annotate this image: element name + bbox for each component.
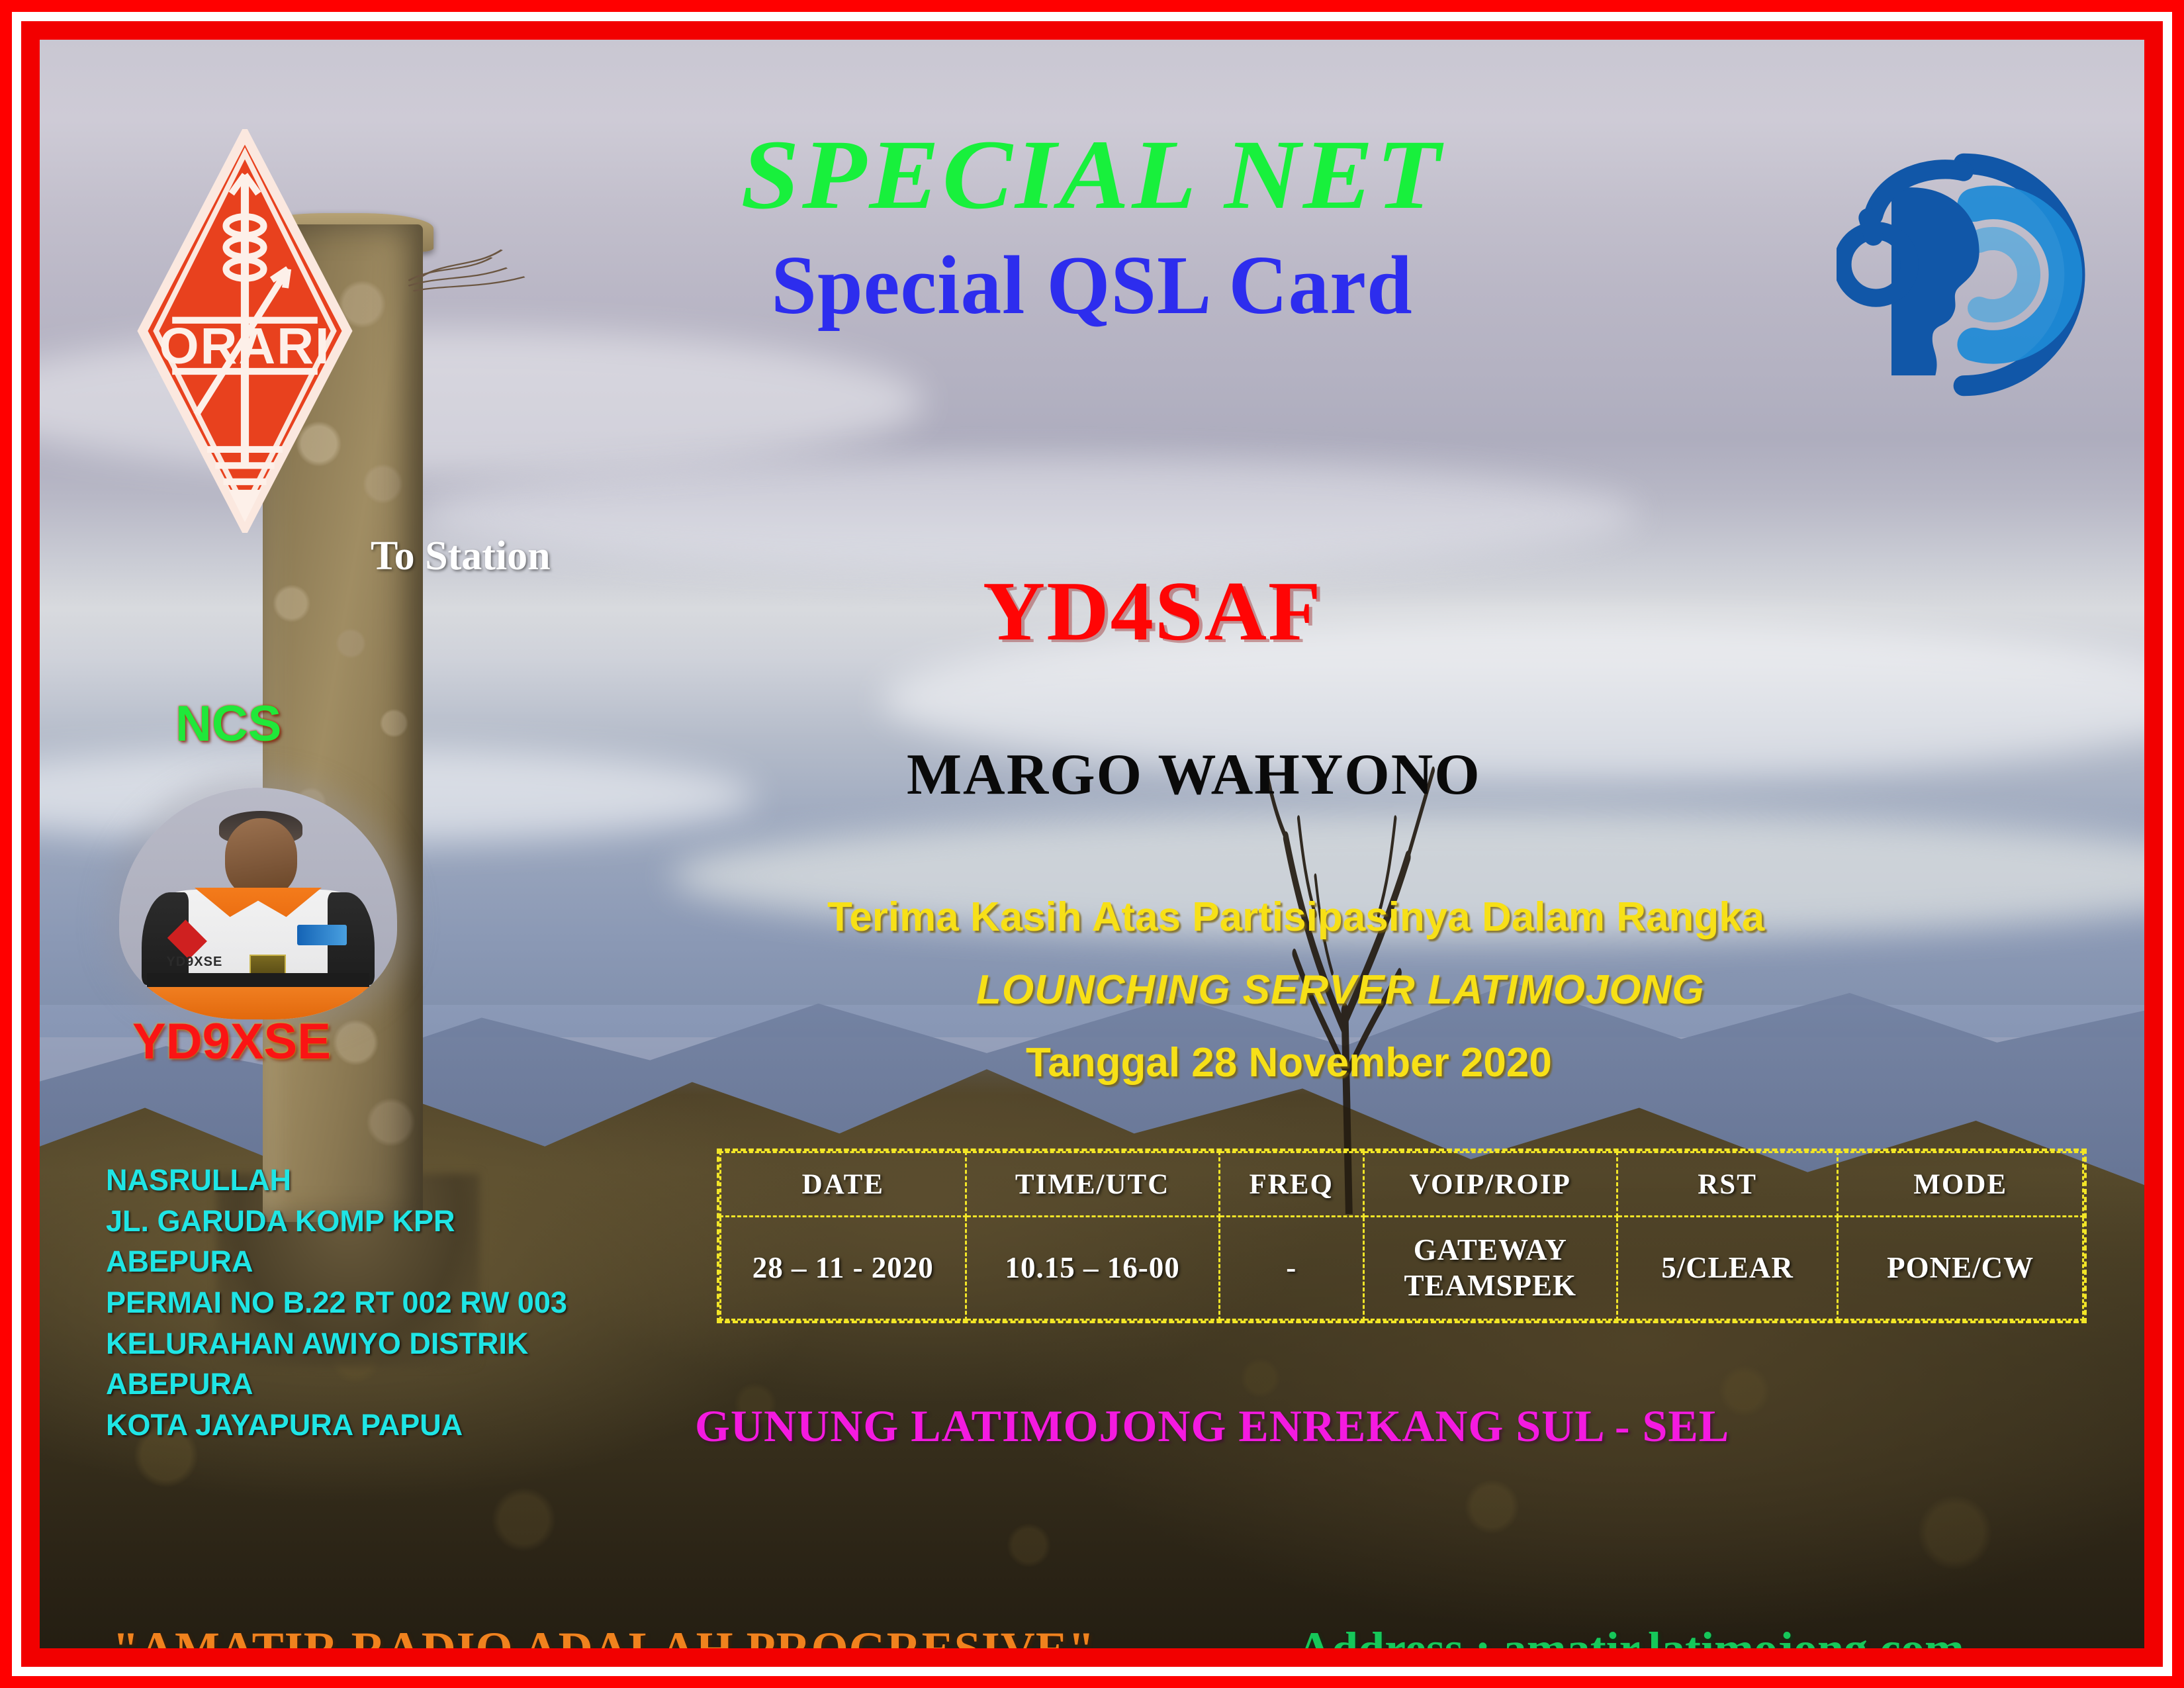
column-header-freq: FREQ (1219, 1152, 1363, 1217)
ncs-callsign: YD9XSE (132, 1013, 331, 1070)
address-line-1: NASRULLAH (106, 1160, 567, 1201)
cloud-band-2 (418, 458, 1639, 571)
qsl-card-inner-red-frame: ORARI (21, 21, 2163, 1667)
operator-name: MARGO WAHYONO (907, 741, 1481, 808)
qsl-card-white-frame: ORARI (12, 12, 2172, 1676)
event-location-line: GUNUNG LATIMOJONG ENREKANG SUL - SEL (695, 1400, 1729, 1452)
page-subtitle-special-qsl-card: Special QSL Card (61, 238, 2123, 334)
page-title-special-net: SPECIAL NET (40, 118, 2144, 232)
cell-freq: - (1219, 1217, 1363, 1320)
qso-log-table: DATE TIME/UTC FREQ VOIP/ROIP RST MODE 28… (717, 1149, 2087, 1323)
photo-head (225, 818, 297, 897)
motto-text: "AMATIR RADIO ADALAH PROGRESIVE" (113, 1622, 1095, 1648)
photo-shirt-callsign-text: YD9XSE (166, 955, 222, 970)
thanks-line-3: Tanggal 28 November 2020 (1026, 1039, 1552, 1086)
address-line-5: KELURAHAN AWIYO DISTRIK (106, 1323, 567, 1364)
column-header-time-utc: TIME/UTC (966, 1152, 1219, 1217)
address-line-7: KOTA JAYAPURA PAPUA (106, 1405, 567, 1446)
address-block: NASRULLAH JL. GARUDA KOMP KPR ABEPURA PE… (106, 1160, 567, 1445)
column-header-voip-roip: VOIP/ROIP (1363, 1152, 1617, 1217)
column-header-date: DATE (721, 1152, 966, 1217)
web-address-text: Address : amatir.latimojong.com (1297, 1622, 1964, 1648)
cell-rst: 5/CLEAR (1617, 1217, 1838, 1320)
cell-mode: PONE/CW (1838, 1217, 2083, 1320)
cell-voip-roip-line-2: TEAMSPEK (1365, 1268, 1615, 1303)
to-station-label: To Station (371, 533, 551, 580)
address-line-6: ABEPURA (106, 1364, 567, 1405)
table-header-row: DATE TIME/UTC FREQ VOIP/ROIP RST MODE (721, 1152, 2083, 1217)
address-line-2: JL. GARUDA KOMP KPR (106, 1201, 567, 1242)
cell-date: 28 – 11 - 2020 (721, 1217, 966, 1320)
photo-shirt-logo (297, 925, 347, 946)
ncs-label: NCS (175, 695, 281, 753)
column-header-mode: MODE (1838, 1152, 2083, 1217)
cell-voip-roip: GATEWAY TEAMSPEK (1363, 1217, 1617, 1320)
qsl-card-photo-background: ORARI (40, 40, 2144, 1648)
column-header-rst: RST (1617, 1152, 1838, 1217)
thanks-line-1: Terima Kasih Atas Partisipasinya Dalam R… (827, 894, 1764, 941)
table-row: 28 – 11 - 2020 10.15 – 16-00 - GATEWAY T… (721, 1217, 2083, 1320)
station-callsign: YD4SAF (983, 563, 1322, 660)
cell-voip-roip-line-1: GATEWAY (1365, 1233, 1615, 1268)
thanks-line-2: LOUNCHING SERVER LATIMOJONG (976, 966, 1705, 1013)
address-line-3: ABEPURA (106, 1241, 567, 1282)
cell-time-utc: 10.15 – 16-00 (966, 1217, 1219, 1320)
address-line-4: PERMAI NO B.22 RT 002 RW 003 (106, 1282, 567, 1323)
qsl-card-outer-red-frame: ORARI (0, 0, 2184, 1688)
